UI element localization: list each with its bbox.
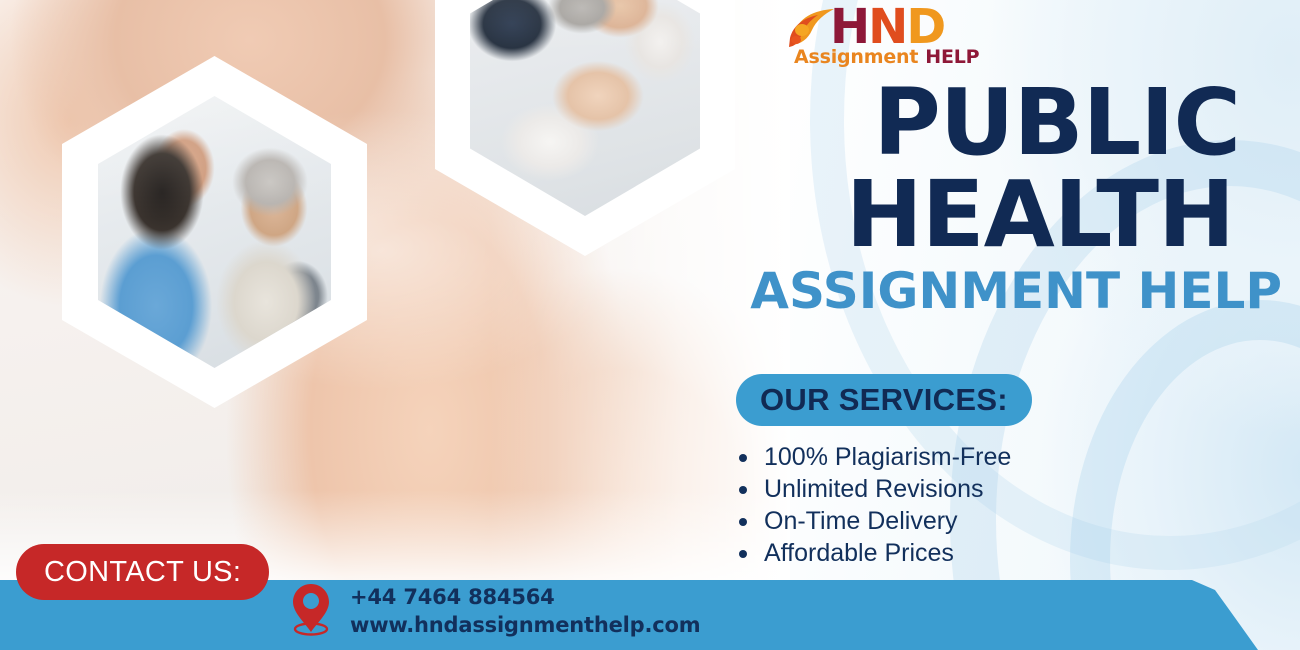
hnd-assignment-help-logo[interactable]: HND AssignmentHELP xyxy=(788,4,963,72)
contact-us-badge: CONTACT US: xyxy=(16,544,269,600)
contact-us-label: CONTACT US: xyxy=(44,556,241,589)
our-services-label: OUR SERVICES: xyxy=(760,382,1008,418)
contact-website[interactable]: www.hndassignmenthelp.com xyxy=(350,611,700,639)
logo-subtext-assignment: Assignment xyxy=(794,46,918,68)
logo-subtext: AssignmentHELP xyxy=(794,46,979,68)
our-services-badge: OUR SERVICES: xyxy=(736,374,1032,426)
list-item: Affordable Prices xyxy=(732,537,1011,569)
services-list: 100% Plagiarism-Free Unlimited Revisions… xyxy=(732,441,1011,569)
list-item: 100% Plagiarism-Free xyxy=(732,441,1011,473)
headline-line-health: HEALTH xyxy=(746,170,1286,260)
headline-block: PUBLIC HEALTH ASSIGNMENT HELP xyxy=(746,78,1286,316)
headline-line-public: PUBLIC xyxy=(746,78,1286,168)
list-item: Unlimited Revisions xyxy=(732,473,1011,505)
contact-phone[interactable]: +44 7464 884564 xyxy=(350,583,700,611)
location-pin-icon xyxy=(288,582,334,636)
logo-subtext-help: HELP xyxy=(925,46,979,68)
list-item: On-Time Delivery xyxy=(732,505,1011,537)
contact-details: +44 7464 884564 www.hndassignmenthelp.co… xyxy=(350,583,700,639)
logo-main-row: HND xyxy=(788,4,963,50)
promotional-banner: HND AssignmentHELP PUBLIC HEALTH ASSIGNM… xyxy=(0,0,1300,650)
logo-letters: HND xyxy=(830,2,944,52)
headline-subtitle: ASSIGNMENT HELP xyxy=(746,266,1286,316)
